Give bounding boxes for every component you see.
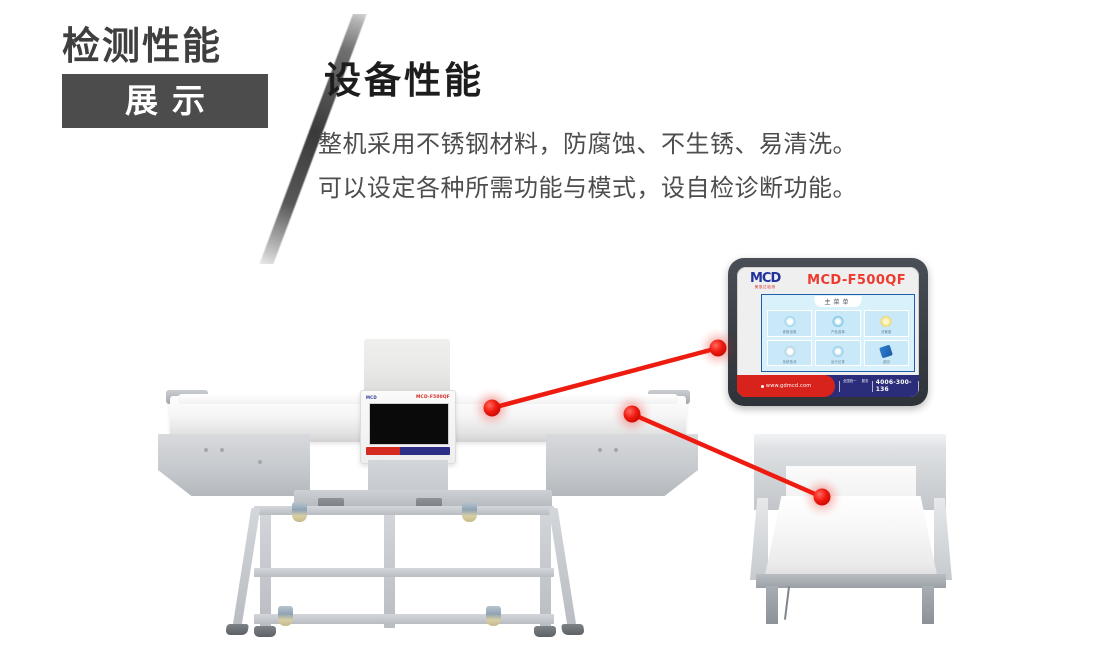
- section-badge: 展示: [62, 74, 268, 128]
- hmi-menu-label-4: 运行记录: [816, 359, 859, 364]
- callout-dot-machine-belt: [624, 406, 641, 423]
- hmi-control-panel-callout[interactable]: MCD 美辰达检测 MCD-F500QF 主菜单 参数设置 产品选择: [728, 258, 928, 406]
- stand-rail-bottom: [254, 614, 554, 624]
- records-icon: [832, 346, 843, 357]
- caster-front-right: [486, 606, 501, 626]
- callout-dot-closeup-belt: [814, 489, 831, 506]
- feature-line-2: 可以设定各种所需功能与模式，设自检诊断功能。: [318, 166, 1018, 210]
- callout-dot-hmi-panel: [710, 340, 727, 357]
- machine-panel-header: MCD MCD-F500QF: [366, 394, 450, 401]
- machine-control-panel[interactable]: MCD MCD-F500QF: [360, 390, 456, 464]
- hmi-screen-title: 主菜单: [814, 296, 861, 307]
- caster-rear-left: [292, 502, 307, 522]
- machine-panel-footer: [366, 447, 450, 455]
- hmi-panel-header: MCD 美辰达检测 MCD-F500QF: [737, 267, 919, 293]
- section-title-cn: 检测性能: [62, 24, 277, 68]
- stand-leg-front-right: [540, 506, 551, 628]
- hmi-menu-item-2[interactable]: 灵敏度: [864, 310, 909, 337]
- hmi-screen[interactable]: 主菜单 参数设置 产品选择 灵敏度: [761, 294, 915, 372]
- hmi-menu-item-1[interactable]: 产品选择: [815, 310, 860, 337]
- hmi-menu-grid: 参数设置 产品选择 灵敏度 系统检测: [767, 310, 909, 366]
- hmi-menu-label-5: 返回: [865, 359, 908, 364]
- hmi-menu-item-3[interactable]: 系统检测: [767, 340, 812, 367]
- machine-panel-screen[interactable]: [369, 403, 449, 445]
- stand-leg-center-left: [384, 506, 395, 628]
- aperture-housing-top: [754, 434, 946, 448]
- stand-leg-front-left: [260, 506, 271, 628]
- hmi-phone-number: 4006-300-136: [876, 379, 915, 393]
- machine-panel-footer-tel: [400, 447, 450, 455]
- closeup-leg-left: [766, 586, 778, 624]
- page-title: 设备性能: [324, 58, 1018, 104]
- product-feature-slide: 检测性能 展示 设备性能 整机采用不锈钢材料，防腐蚀、不生锈、易清洗。 可以设定…: [0, 0, 1100, 650]
- product-icon: [832, 316, 843, 327]
- hmi-menu-item-0[interactable]: 参数设置: [767, 310, 812, 337]
- conveyor-closeup-callout: [726, 428, 978, 624]
- side-skirt-right: [546, 434, 698, 496]
- globe-icon: [761, 385, 764, 388]
- hmi-model-label: MCD-F500QF: [807, 273, 906, 288]
- machine-panel-model: MCD-F500QF: [416, 395, 450, 400]
- detection-head: [364, 338, 450, 394]
- divider-3: [918, 381, 919, 392]
- sensitivity-icon: [881, 316, 892, 327]
- hmi-menu-label-2: 灵敏度: [865, 329, 908, 334]
- stand-brace-right: [549, 508, 577, 626]
- power-cable: [784, 586, 790, 620]
- belt-rail-left: [750, 498, 768, 580]
- hmi-menu-label-0: 参数设置: [768, 329, 811, 334]
- hmi-menu-label-1: 产品选择: [816, 329, 859, 334]
- machine-panel-logo: MCD: [366, 395, 377, 400]
- hmi-service-label-1: 全国统一: [843, 379, 857, 383]
- leveling-foot-rear-left: [225, 624, 249, 635]
- hmi-brand-logo: MCD 美辰达检测: [750, 272, 780, 290]
- closeup-belt-base: [756, 574, 946, 588]
- caster-rear-right: [462, 502, 477, 522]
- hmi-website-text: www.gdmcd.com: [766, 383, 811, 389]
- hmi-logo-text: MCD: [750, 272, 780, 285]
- leveling-foot-front-right: [534, 626, 556, 637]
- header-right-block: 设备性能 整机采用不锈钢材料，防腐蚀、不生锈、易清洗。 可以设定各种所需功能与模…: [318, 58, 1018, 210]
- leveling-foot-rear-right: [561, 624, 585, 635]
- leveling-foot-front-left: [254, 626, 276, 637]
- diagnostics-icon: [784, 346, 795, 357]
- hmi-footer-bar: www.gdmcd.com 全国统一 服务热线 4006-300-136: [737, 375, 919, 397]
- metal-detector-machine: MCD MCD-F500QF: [148, 338, 708, 638]
- hmi-service-hotline: 全国统一 服务热线 4006-300-136: [835, 367, 919, 397]
- closeup-conveyor-belt: [764, 496, 938, 580]
- hmi-menu-item-4[interactable]: 运行记录: [815, 340, 860, 367]
- back-arrow-icon: [879, 344, 893, 358]
- settings-icon: [784, 316, 795, 327]
- header-left-block: 检测性能 展示: [62, 24, 277, 128]
- feature-line-1: 整机采用不锈钢材料，防腐蚀、不生锈、易清洗。: [318, 122, 1018, 166]
- machine-panel-footer-url: [366, 447, 400, 455]
- hmi-website[interactable]: www.gdmcd.com: [737, 375, 835, 397]
- belt-rail-right: [934, 498, 952, 580]
- caster-front-left: [278, 606, 293, 626]
- hmi-menu-label-3: 系统检测: [768, 359, 811, 364]
- divider: [839, 381, 840, 392]
- machine-stand-frame: [234, 506, 578, 628]
- hmi-menu-item-5[interactable]: 返回: [864, 340, 909, 367]
- stand-rail-mid: [254, 568, 554, 577]
- hmi-panel-body: MCD 美辰达检测 MCD-F500QF 主菜单 参数设置 产品选择: [737, 267, 919, 397]
- side-skirt-left: [158, 434, 310, 496]
- divider-2: [872, 381, 873, 392]
- section-badge-label: 展示: [111, 84, 219, 118]
- closeup-leg-right: [922, 586, 934, 624]
- callout-dot-machine-panel: [484, 400, 501, 417]
- hmi-service-label: 全国统一 服务热线: [843, 367, 869, 397]
- stand-brace-left: [233, 508, 261, 626]
